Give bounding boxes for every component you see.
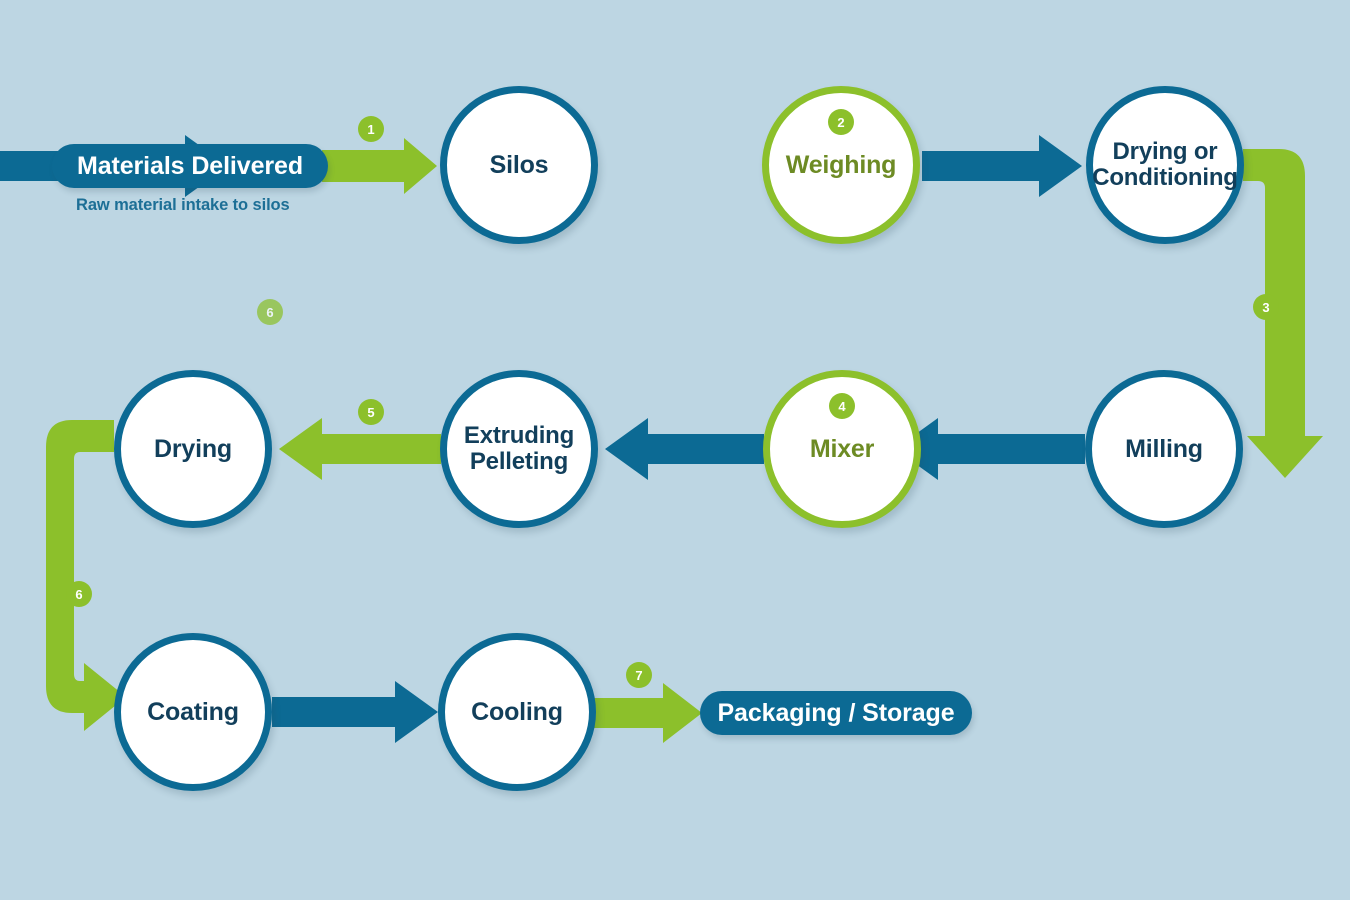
pill-materials-delivered[interactable]: Materials Delivered (52, 144, 328, 188)
pill-packaging-storage[interactable]: Packaging / Storage (700, 691, 972, 735)
node-label: Extruding Pelleting (464, 423, 574, 475)
node-label: Cooling (471, 699, 563, 726)
materials-delivered-sublabel: Raw material intake to silos (76, 196, 290, 215)
process-flow-diagram: Materials Delivered Raw material intake … (0, 0, 1350, 900)
node-label-line2: Pelleting (470, 448, 568, 475)
connector-mixer-to-extruding (605, 418, 764, 480)
badge-step-6-upper: 6 (257, 299, 283, 325)
badge-number: 4 (838, 400, 845, 413)
connector-weighing-to-drying-conditioning (922, 135, 1082, 197)
node-label: Coating (147, 699, 239, 726)
connector-cooling-to-packaging (594, 683, 702, 743)
badge-number: 6 (75, 588, 82, 601)
node-silos[interactable]: Silos (440, 86, 598, 244)
badge-step-3: 3 (1253, 294, 1279, 320)
node-cooling[interactable]: Cooling (438, 633, 596, 791)
connector-coating-to-cooling (272, 681, 438, 743)
node-coating[interactable]: Coating (114, 633, 272, 791)
node-extruding-pelleting[interactable]: Extruding Pelleting (440, 370, 598, 528)
badge-number: 3 (1262, 301, 1269, 314)
badge-step-6: 6 (66, 581, 92, 607)
connector-drying-to-coating (46, 420, 126, 731)
node-label-line1: Drying or (1113, 138, 1218, 165)
node-label: Silos (490, 152, 549, 179)
connector-milling-to-mixer (895, 418, 1085, 480)
node-label: Weighing (786, 152, 896, 179)
badge-step-7: 7 (626, 662, 652, 688)
node-label-line1: Extruding (464, 422, 574, 449)
node-label: Milling (1125, 436, 1203, 463)
node-label: Mixer (810, 436, 874, 463)
node-label: Drying or Conditioning (1092, 139, 1238, 191)
badge-step-4: 4 (829, 393, 855, 419)
node-milling[interactable]: Milling (1085, 370, 1243, 528)
badge-step-2: 2 (828, 109, 854, 135)
badge-number: 7 (635, 669, 642, 682)
badge-step-1: 1 (358, 116, 384, 142)
pill-label: Packaging / Storage (717, 699, 954, 728)
node-drying-or-conditioning[interactable]: Drying or Conditioning (1086, 86, 1244, 244)
pill-label: Materials Delivered (77, 152, 303, 181)
node-label: Drying (154, 436, 232, 463)
badge-number: 6 (266, 306, 273, 319)
node-label-line2: Conditioning (1092, 164, 1238, 191)
badge-number: 5 (367, 406, 374, 419)
node-drying[interactable]: Drying (114, 370, 272, 528)
badge-step-5: 5 (358, 399, 384, 425)
badge-number: 2 (837, 116, 844, 129)
connector-extruding-to-drying (279, 418, 441, 480)
badge-number: 1 (367, 123, 374, 136)
connector-materials-to-silos (322, 138, 437, 194)
